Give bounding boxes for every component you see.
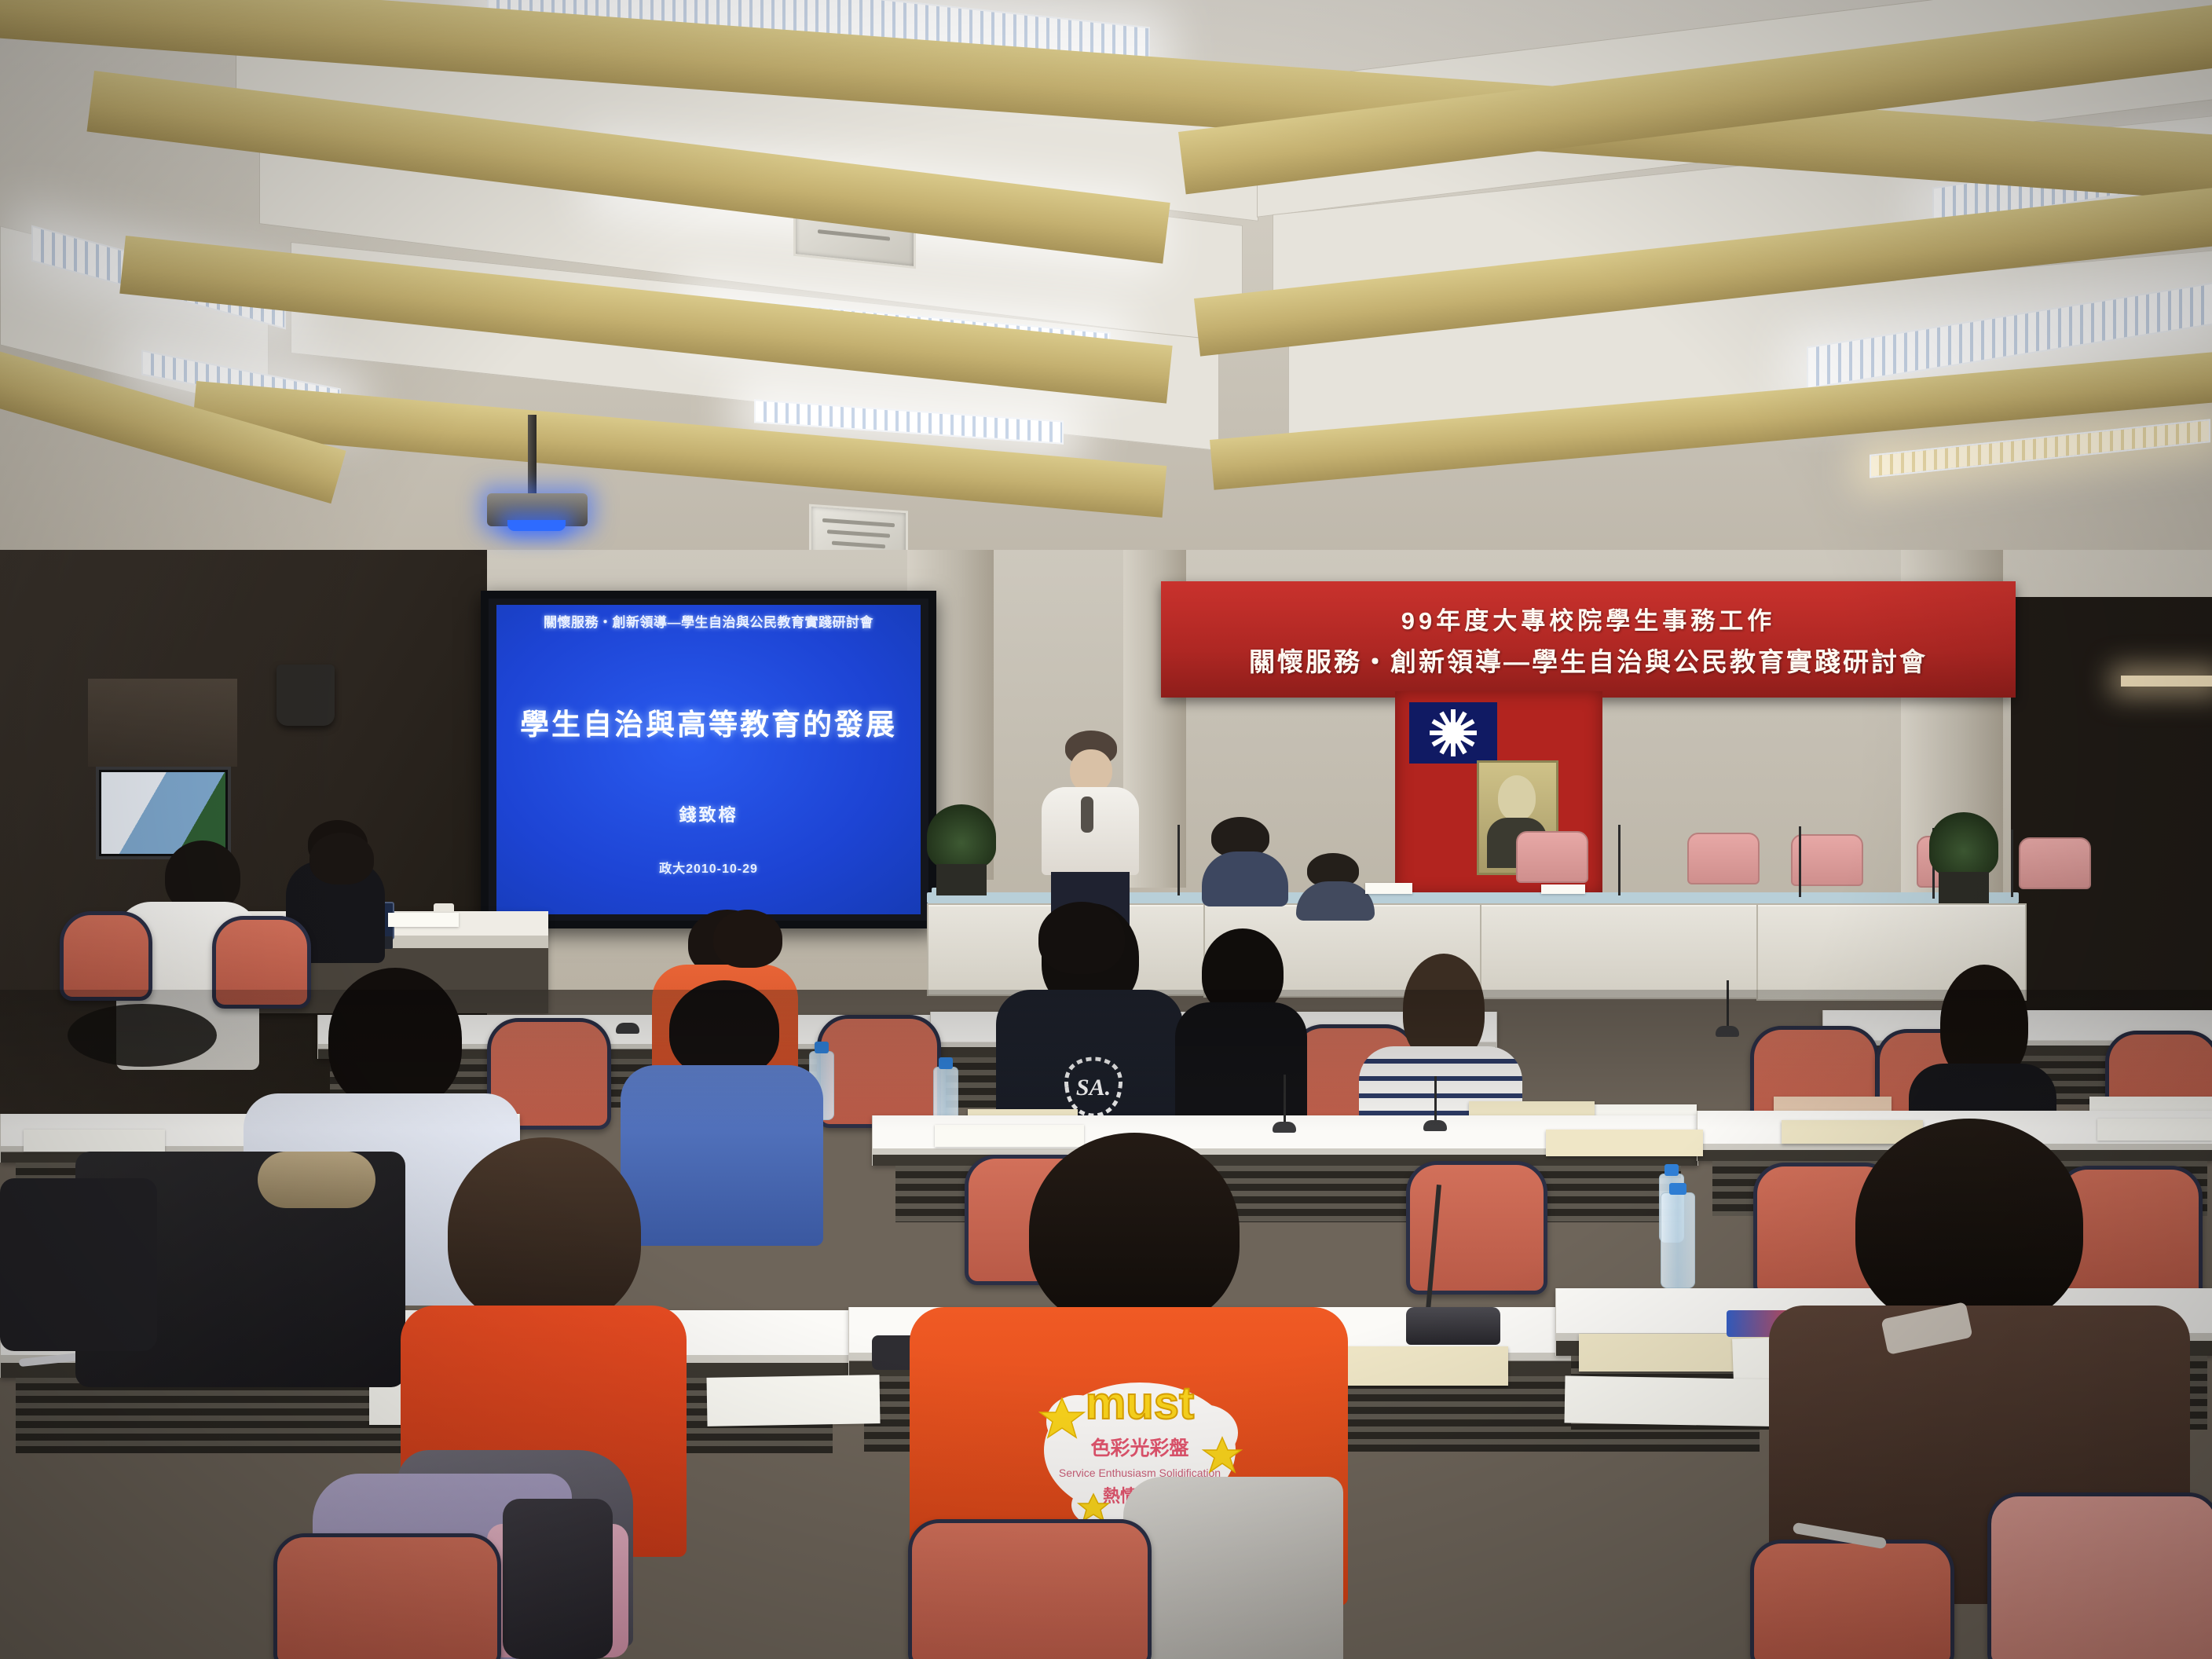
audience-chair[interactable] — [1750, 1540, 1954, 1659]
dais-chair[interactable] — [1687, 833, 1760, 884]
slide-title-text: 學生自治與高等教育的發展 — [496, 701, 921, 743]
handout[interactable] — [706, 1375, 880, 1426]
seated-official — [1296, 853, 1375, 908]
desk-paper — [388, 913, 459, 927]
projection-screen: 關懷服務‧創新領導—學生自治與公民教育實踐研討會 學生自治與高等教育的發展 錢致… — [481, 591, 936, 928]
hair — [1038, 902, 1125, 974]
dais-paper — [1365, 883, 1412, 894]
sun-emblem-icon — [1409, 702, 1497, 764]
dais-microphone[interactable] — [2011, 829, 2013, 897]
flag-canton — [1409, 702, 1497, 764]
hair — [1855, 1119, 2083, 1329]
office-chair[interactable] — [60, 911, 152, 1001]
grey-towel-draped — [1123, 1477, 1343, 1659]
svg-text:色彩光彩盤: 色彩光彩盤 — [1090, 1437, 1189, 1459]
backpack — [503, 1499, 613, 1659]
potted-plant — [1929, 786, 1998, 903]
right-wall-light-strip — [2121, 676, 2212, 687]
room-shadow — [0, 990, 2212, 1131]
water-bottle[interactable] — [1661, 1192, 1695, 1288]
dais-microphone[interactable] — [1799, 826, 1801, 897]
wall-speaker-icon — [276, 665, 335, 726]
ceiling — [0, 0, 2212, 613]
microphone-base — [1406, 1307, 1500, 1345]
seated-official — [1202, 817, 1288, 903]
fur-collar — [258, 1152, 375, 1208]
dais-microphone[interactable] — [1177, 825, 1180, 895]
dais-paper — [1541, 884, 1585, 894]
presenter — [1035, 731, 1145, 919]
window-blind — [88, 679, 237, 767]
hair — [1029, 1133, 1240, 1329]
attendee-dark-hair-left — [1023, 902, 1141, 996]
coat-on-chair — [0, 1178, 157, 1351]
audience-chair[interactable] — [908, 1519, 1152, 1659]
potted-plant — [927, 770, 996, 895]
projector-mount — [528, 415, 537, 497]
banner-line-1: 99年度大專校院學生事務工作 — [1401, 601, 1775, 636]
dais-chair[interactable] — [2019, 837, 2091, 889]
right-wall-shadowed — [2011, 597, 2212, 1021]
presenter-hand-microphone[interactable] — [1081, 797, 1093, 833]
conference-room-photo: 關懷服務‧創新領導—學生自治與公民教育實踐研討會 學生自治與高等教育的發展 錢致… — [0, 0, 2212, 1659]
torso — [1202, 851, 1288, 906]
slide-date-text: 政大2010-10-29 — [496, 858, 921, 877]
conference-folder[interactable] — [1546, 1130, 1703, 1156]
dais-microphone[interactable] — [1618, 825, 1621, 895]
dais-chair[interactable] — [1791, 834, 1863, 886]
dais-chair[interactable] — [1516, 831, 1588, 883]
handout[interactable] — [24, 1130, 165, 1152]
projector-lens-icon — [507, 520, 566, 531]
svg-text:must: must — [1086, 1378, 1195, 1429]
slide-author-text: 錢致榕 — [496, 801, 921, 826]
torso — [1296, 881, 1375, 921]
audience-chair[interactable] — [1406, 1161, 1547, 1295]
slide-surface: 關懷服務‧創新領導—學生自治與公民教育實踐研討會 學生自治與高等教育的發展 錢致… — [496, 605, 921, 914]
audience-chair[interactable] — [273, 1533, 501, 1659]
handout[interactable] — [1564, 1375, 1800, 1426]
event-banner: 99年度大專校院學生事務工作 關懷服務‧創新領導—學生自治與公民教育實踐研討會 — [1161, 581, 2016, 698]
hair — [713, 910, 782, 968]
hair — [448, 1137, 641, 1326]
banner-line-2: 關懷服務‧創新領導—學生自治與公民教育實踐研討會 — [1249, 641, 1928, 679]
hair — [309, 833, 374, 884]
audience-chair[interactable] — [1987, 1492, 2212, 1659]
slide-header-text: 關懷服務‧創新領導—學生自治與公民教育實踐研討會 — [496, 611, 921, 631]
